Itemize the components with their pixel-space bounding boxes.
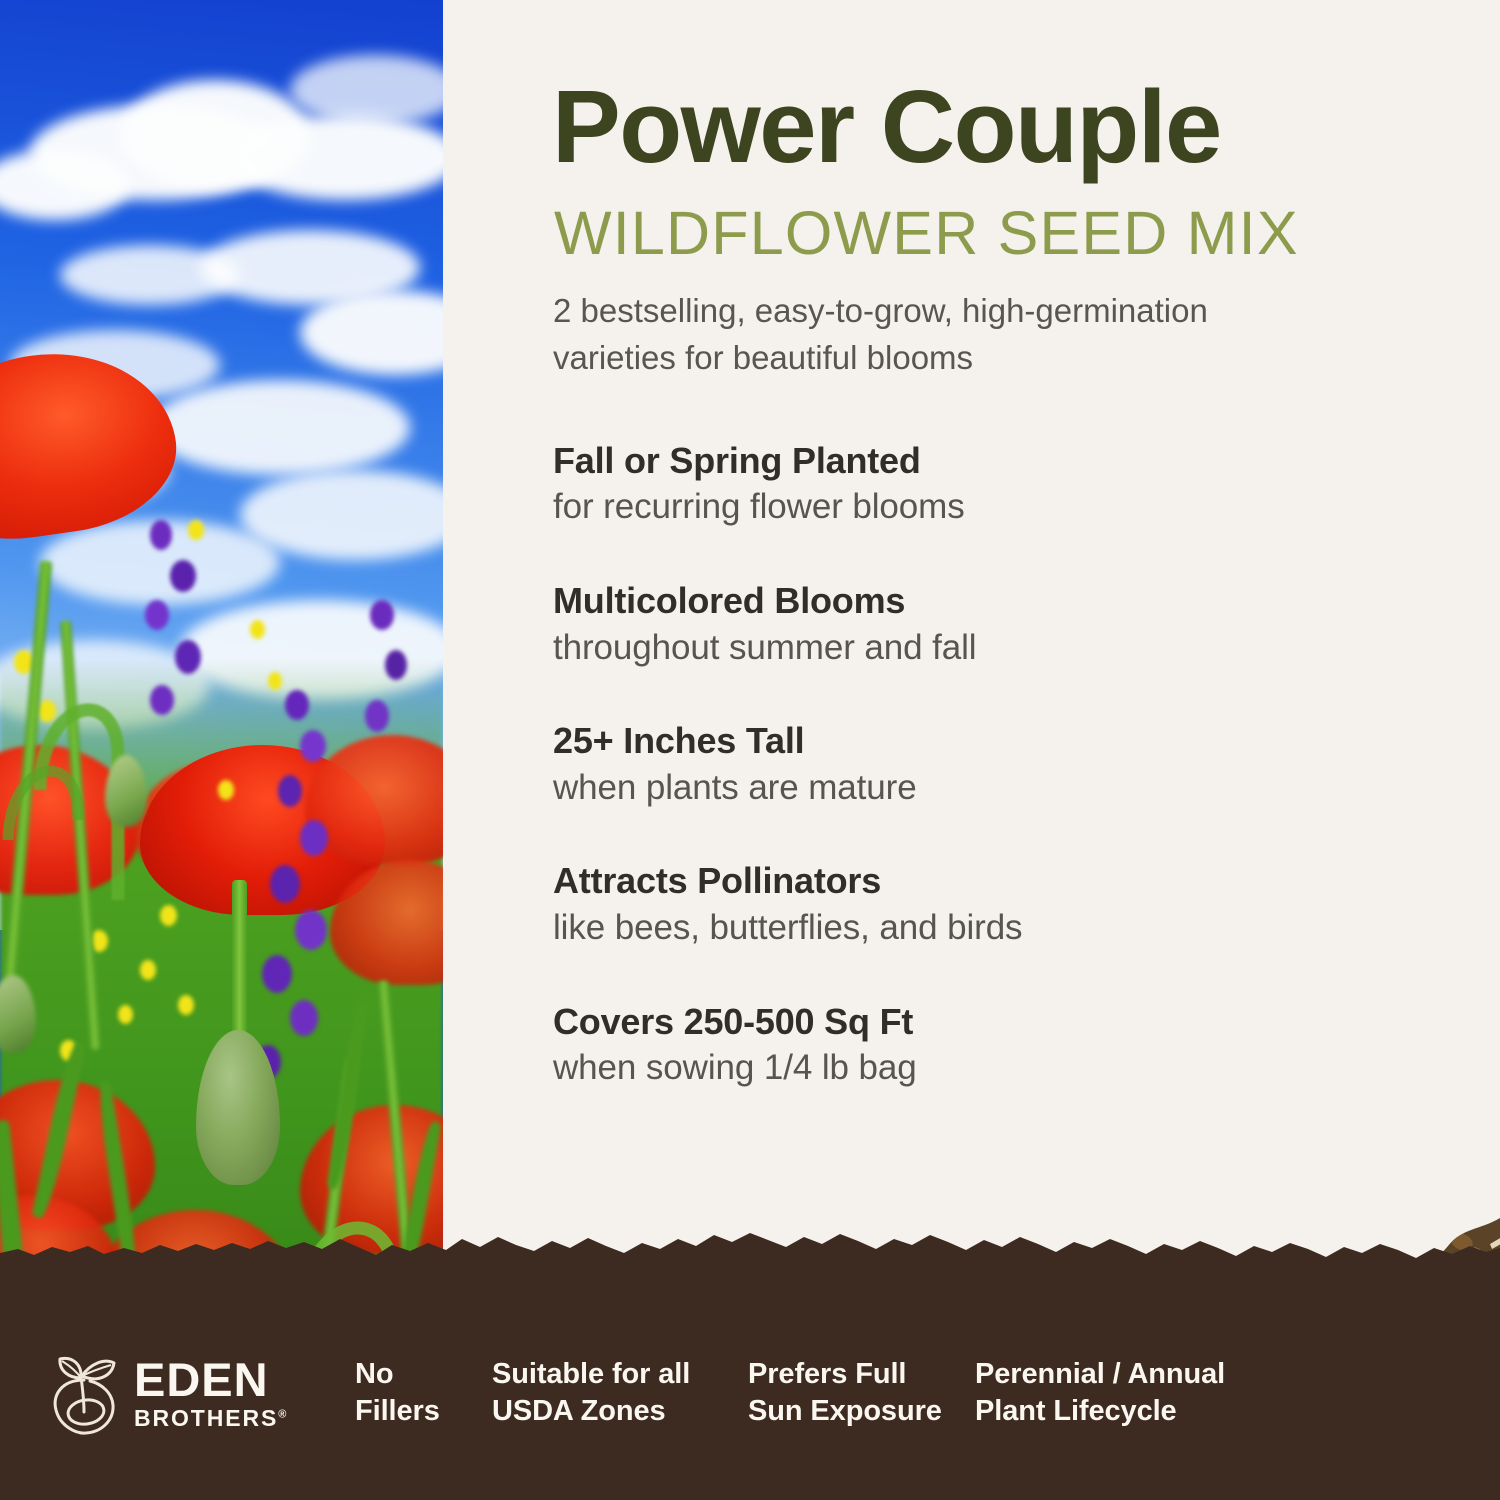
product-subtitle: WILDFLOWER SEED MIX — [554, 203, 1299, 264]
footer-badges: No Fillers Suitable for all USDA Zones P… — [0, 1285, 1500, 1500]
page-title: Power Couple — [552, 75, 1221, 178]
list-item: Fall or Spring Planted for recurring flo… — [553, 440, 1313, 529]
feature-list: Fall or Spring Planted for recurring flo… — [553, 440, 1313, 1141]
feature-heading: Multicolored Blooms — [553, 580, 1313, 622]
footer-bar: EDEN BROTHERS® No Fillers Suitable for a… — [0, 1285, 1500, 1500]
status-badge: Suitable for all USDA Zones — [492, 1355, 690, 1429]
feature-heading: Covers 250-500 Sq Ft — [553, 1001, 1313, 1043]
status-badge: Prefers Full Sun Exposure — [748, 1355, 942, 1429]
list-item: 25+ Inches Tall when plants are mature — [553, 720, 1313, 809]
status-badge: Perennial / Annual Plant Lifecycle — [975, 1355, 1225, 1429]
list-item: Covers 250-500 Sq Ft when sowing 1/4 lb … — [553, 1001, 1313, 1090]
product-infographic: Power Couple WILDFLOWER SEED MIX 2 bests… — [0, 0, 1500, 1500]
feature-detail: like bees, butterflies, and birds — [553, 907, 1313, 950]
feature-detail: for recurring flower blooms — [553, 486, 1313, 529]
feature-detail: throughout summer and fall — [553, 627, 1313, 670]
feature-heading: Fall or Spring Planted — [553, 440, 1313, 482]
product-description: 2 bestselling, easy-to-grow, high-germin… — [553, 288, 1333, 382]
torn-soil-edge — [0, 1225, 1500, 1285]
status-badge: No Fillers — [355, 1355, 440, 1429]
feature-detail: when sowing 1/4 lb bag — [553, 1047, 1313, 1090]
list-item: Multicolored Blooms throughout summer an… — [553, 580, 1313, 669]
feature-heading: 25+ Inches Tall — [553, 720, 1313, 762]
feature-heading: Attracts Pollinators — [553, 860, 1313, 902]
list-item: Attracts Pollinators like bees, butterfl… — [553, 860, 1313, 949]
feature-detail: when plants are mature — [553, 767, 1313, 810]
